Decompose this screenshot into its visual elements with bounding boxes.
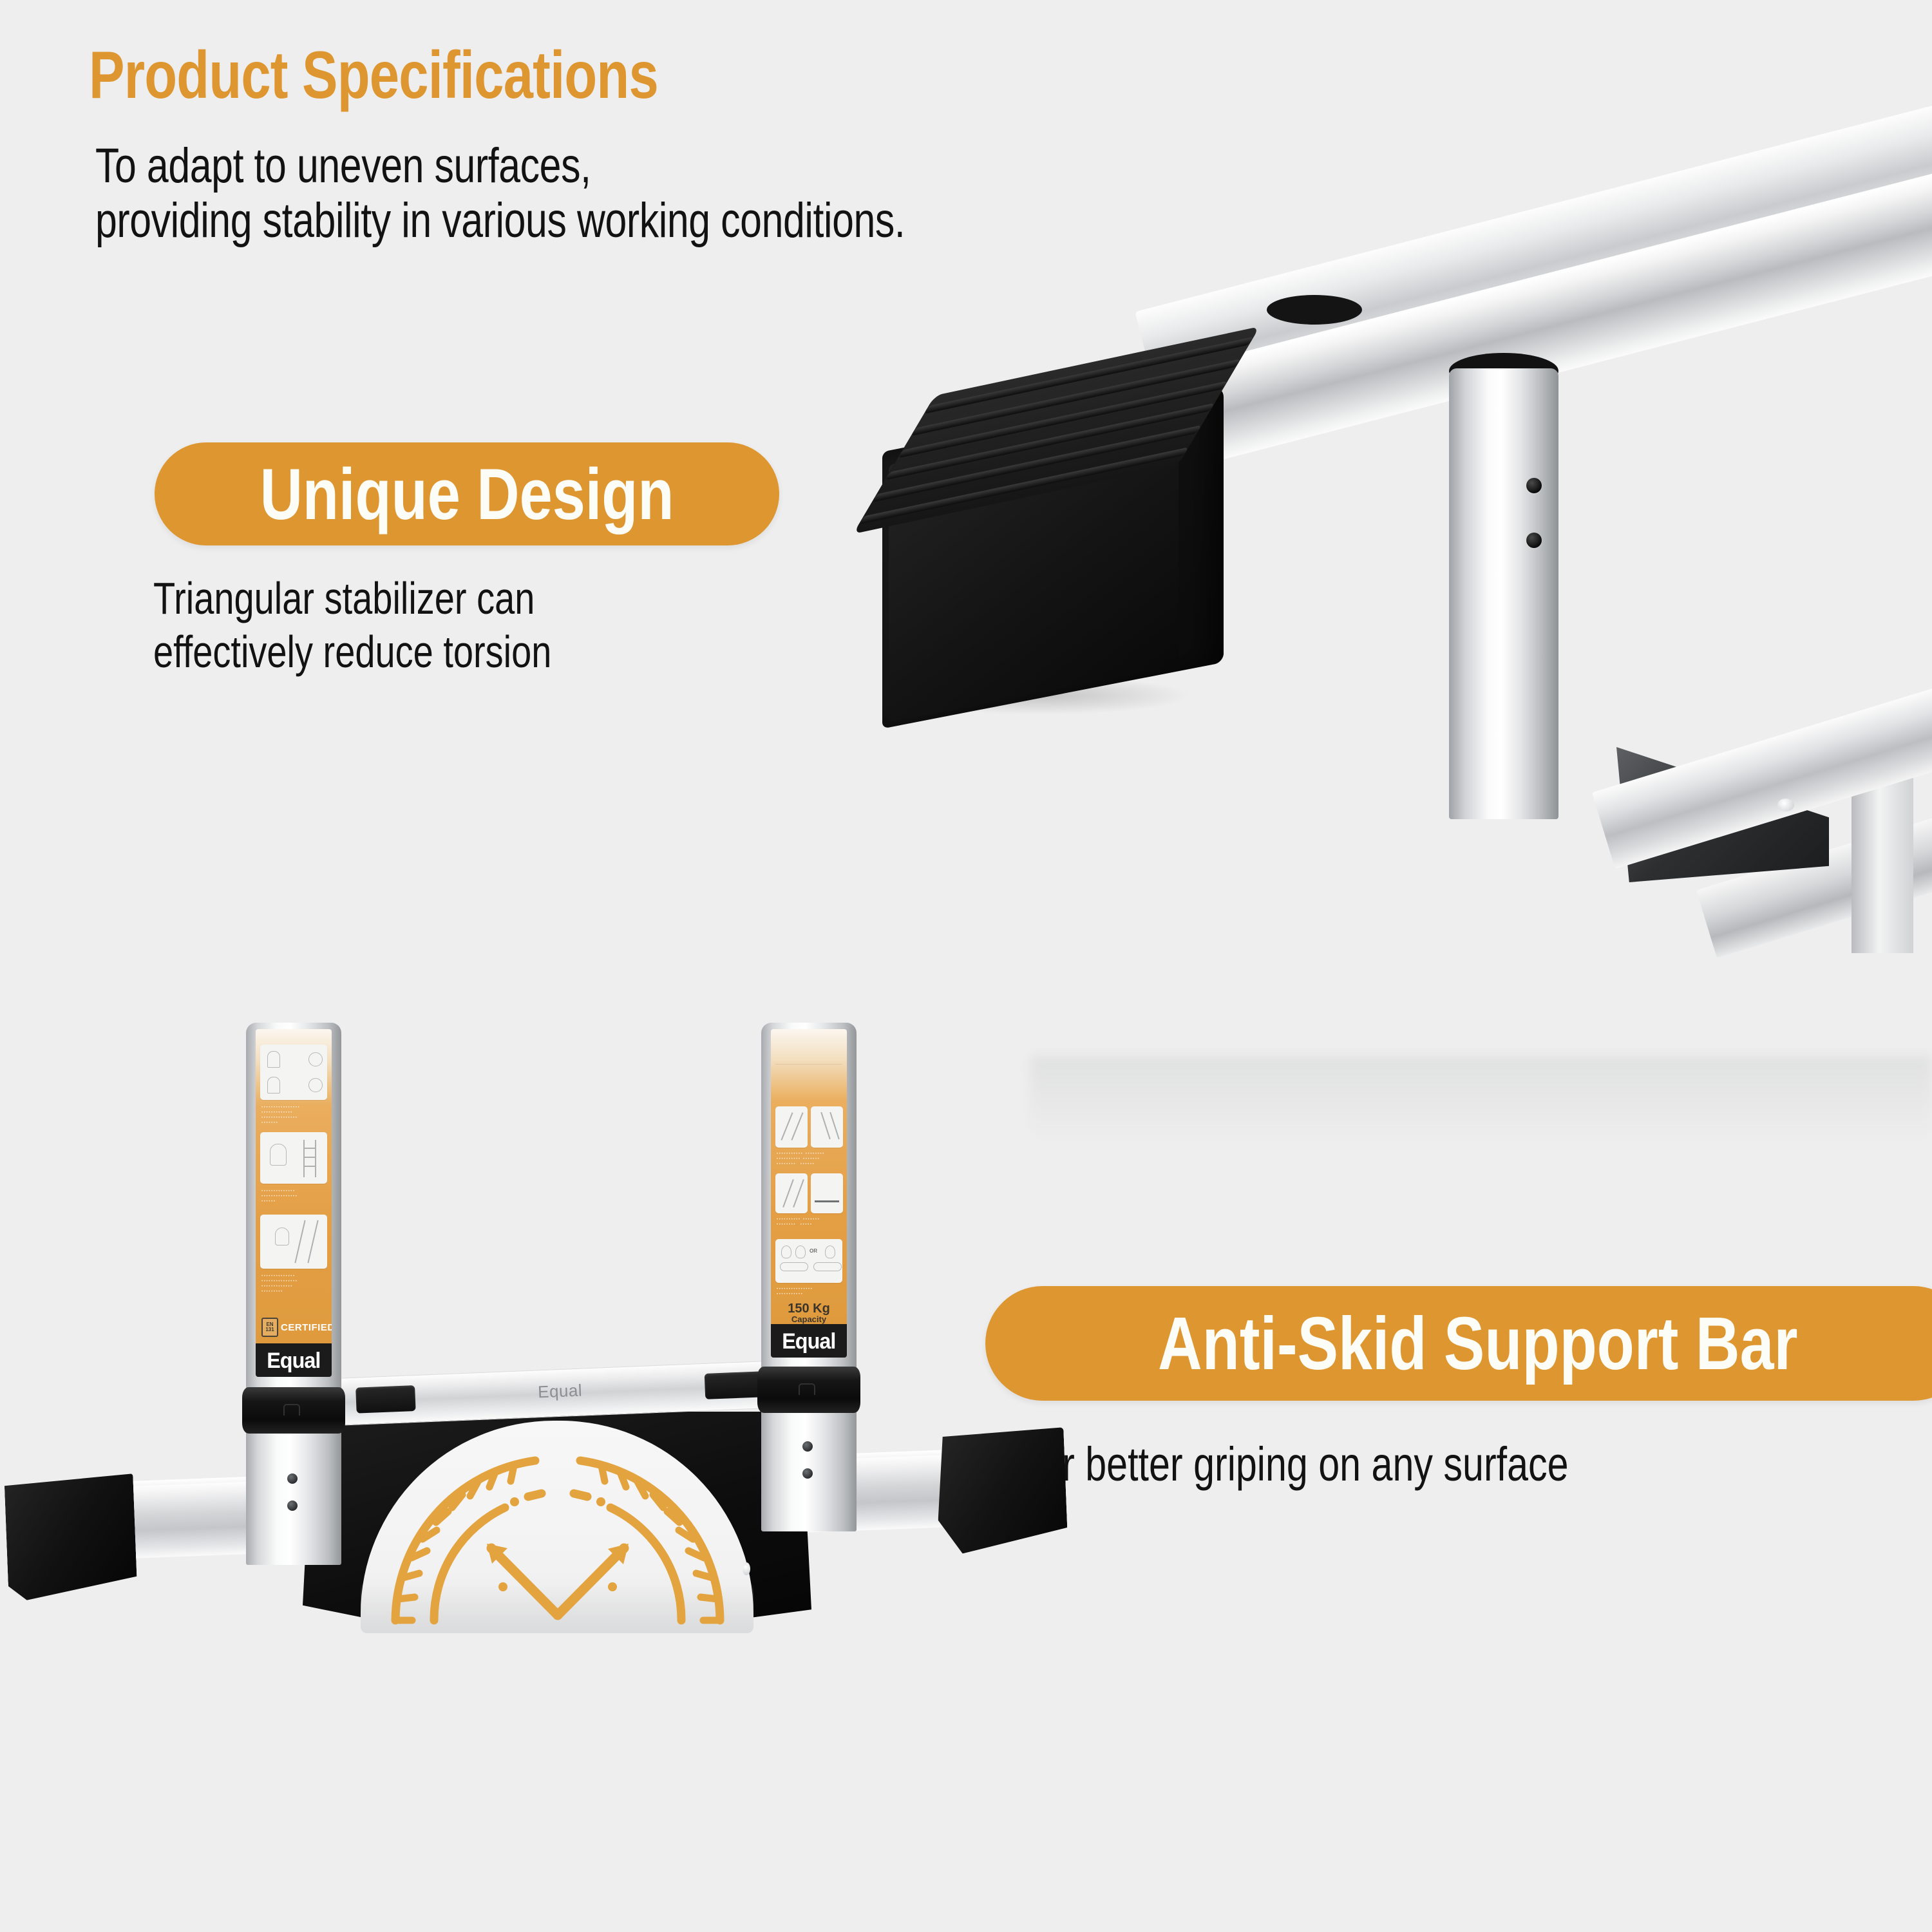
rotate-icon: [308, 1052, 323, 1066]
brand-logo-right: Equal: [771, 1324, 847, 1358]
unique-design-description: Triangular stabilizer can effectively re…: [153, 572, 551, 678]
brand-name: Equal: [267, 1349, 320, 1374]
ladder-rung-icon: [303, 1157, 315, 1158]
lock-icon: [267, 1051, 280, 1068]
brand-name: Equal: [782, 1329, 835, 1354]
page-subtitle: To adapt to uneven surfaces, providing s…: [95, 138, 905, 248]
ground-line-icon: [815, 1200, 839, 1202]
leg-collar-left: [242, 1387, 345, 1434]
sticker-top-gap: [775, 1061, 842, 1064]
certification-number: 131: [265, 1327, 274, 1332]
photo-anti-skid-cap: [953, 412, 1932, 1095]
subtitle-line-2: providing stability in various working c…: [95, 193, 905, 248]
rivet-icon: [287, 1501, 298, 1511]
ladder-rung-icon: [303, 1148, 315, 1149]
lock-icon: [267, 1077, 280, 1094]
shoe-icon: [795, 1245, 806, 1258]
protractor-arc-icon: [379, 1435, 737, 1628]
shoe-icon: [825, 1245, 835, 1258]
unique-design-desc-line-2: effectively reduce torsion: [153, 625, 551, 679]
crossbar-brand-label: Equal: [335, 1372, 785, 1410]
sole-icon: [813, 1262, 842, 1271]
leg-collar-right: [757, 1367, 860, 1413]
ladder-rail-icon: [303, 1140, 305, 1177]
rotate-icon: [308, 1078, 323, 1092]
collar-notch-icon: [283, 1404, 300, 1416]
anti-skid-foot-left: [4, 1473, 137, 1601]
cylinder-leg-primary: [1449, 368, 1558, 819]
collar-notch-icon: [799, 1383, 815, 1395]
plate-hole-icon: [743, 1562, 750, 1575]
sticker-panel-surface: [811, 1173, 843, 1213]
capacity-value: 150 Kg: [771, 1302, 847, 1315]
person-climbing-icon: [275, 1227, 289, 1245]
certification-text: CERTIFIED: [281, 1322, 332, 1333]
rivet-icon: [802, 1468, 813, 1479]
cap-rib: [898, 381, 1227, 458]
unique-design-desc-line-1: Triangular stabilizer can: [153, 572, 551, 625]
brand-logo-left: Equal: [256, 1343, 332, 1377]
badge-unique-design: Unique Design: [155, 442, 779, 545]
subtitle-line-1: To adapt to uneven surfaces,: [95, 138, 905, 193]
person-icon: [270, 1144, 287, 1166]
shoe-icon: [781, 1245, 791, 1258]
anti-skid-foot-right: [934, 1427, 1068, 1555]
sole-icon: [780, 1262, 808, 1271]
anti-skid-end-cap: [882, 341, 1307, 753]
rivet-icon: [802, 1441, 813, 1452]
page-title: Product Specifications: [89, 37, 658, 114]
rivet-icon: [1526, 478, 1542, 493]
capacity-block: 150 Kg Capacity: [771, 1302, 847, 1324]
en131-badge: EN 131: [261, 1318, 278, 1337]
capacity-label: Capacity: [771, 1315, 847, 1324]
photo-triangular-stabilizer: Equal • • • • • • • • • • • • • • • •• •…: [0, 1018, 1159, 1932]
ladder-rung-icon: [303, 1166, 315, 1167]
bracket-hole-icon: [1777, 799, 1794, 811]
cap-rib: [911, 359, 1240, 436]
or-label: OR: [810, 1248, 817, 1254]
cap-rib: [924, 337, 1254, 414]
infographic-page: Product Specifications To adapt to uneve…: [0, 0, 1932, 1932]
ladder-rail-icon: [315, 1140, 316, 1177]
badge-anti-skid-label: Anti-Skid Support Bar: [1158, 1300, 1797, 1387]
warning-sticker-right: • • • • • • • • • • • • • • • • • • •• •…: [771, 1029, 847, 1358]
rivet-icon: [1526, 533, 1542, 548]
rivet-icon: [287, 1473, 298, 1484]
badge-unique-design-label: Unique Design: [260, 453, 674, 536]
certification-row: EN 131 CERTIFIED: [261, 1318, 332, 1337]
warning-sticker-left: • • • • • • • • • • • • • • • •• • • • •…: [256, 1029, 332, 1377]
